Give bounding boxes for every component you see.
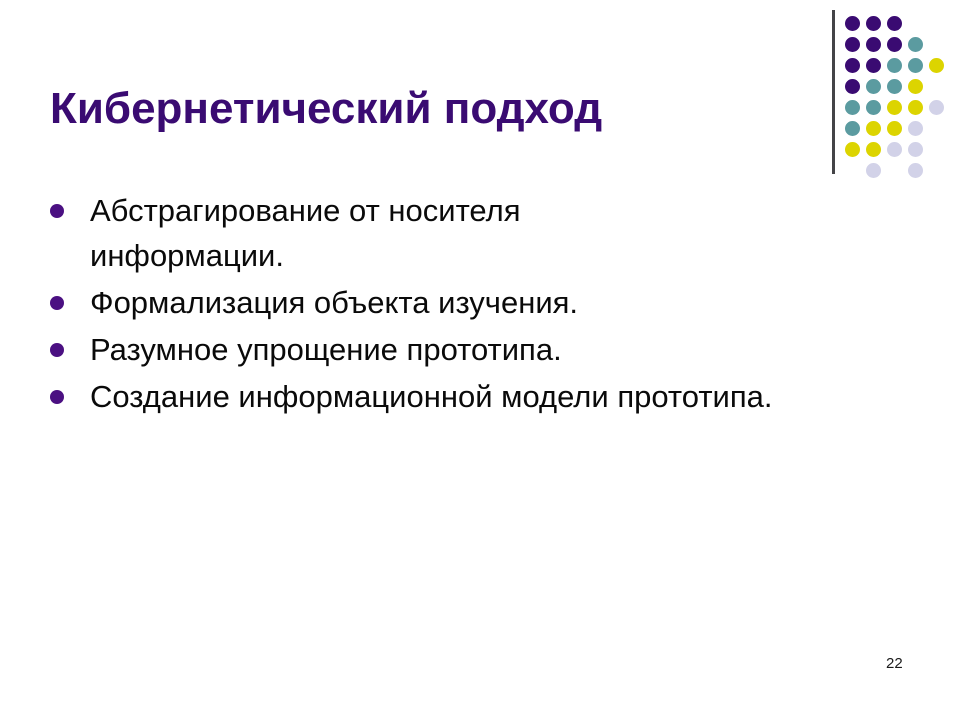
decor-dot	[887, 79, 902, 94]
decor-dot	[845, 142, 860, 157]
bullet-point-icon	[50, 390, 64, 404]
decorative-dot-motif	[832, 8, 960, 174]
decor-dot	[908, 79, 923, 94]
decor-dot	[929, 100, 944, 115]
decor-dot	[887, 100, 902, 115]
decor-dot	[908, 37, 923, 52]
bullet-item: Абстрагирование от носителя информации.	[50, 188, 840, 278]
decor-dot	[845, 100, 860, 115]
decor-dot	[845, 58, 860, 73]
decor-dot	[887, 121, 902, 136]
bullet-point-icon	[50, 296, 64, 310]
decor-dot	[866, 37, 881, 52]
decor-dot	[908, 58, 923, 73]
decor-dot	[887, 37, 902, 52]
bullet-item: Разумное упрощение прототипа.	[50, 327, 840, 372]
decor-dot	[908, 163, 923, 178]
bullet-item-text: Разумное упрощение прототипа.	[90, 327, 780, 372]
bullet-point-icon	[50, 204, 64, 218]
bullet-item: Формализация объекта изучения.	[50, 280, 840, 325]
vertical-divider-rule	[832, 10, 835, 174]
decor-dot	[887, 142, 902, 157]
dot-grid	[845, 16, 960, 174]
decor-dot	[845, 121, 860, 136]
decor-dot	[866, 58, 881, 73]
decor-dot	[887, 16, 902, 31]
decor-dot	[866, 16, 881, 31]
decor-dot	[887, 58, 902, 73]
decor-dot	[845, 79, 860, 94]
decor-dot	[908, 100, 923, 115]
decor-dot	[866, 79, 881, 94]
bullet-item-text: Формализация объекта изучения.	[90, 280, 780, 325]
decor-dot	[908, 142, 923, 157]
bullet-list: Абстрагирование от носителя информации.Ф…	[50, 188, 840, 421]
decor-dot	[866, 121, 881, 136]
bullet-item-text: Создание информационной модели прототипа…	[90, 374, 780, 419]
decor-dot	[908, 121, 923, 136]
decor-dot	[866, 163, 881, 178]
bullet-item: Создание информационной модели прототипа…	[50, 374, 840, 419]
decor-dot	[866, 142, 881, 157]
bullet-point-icon	[50, 343, 64, 357]
decor-dot	[845, 37, 860, 52]
bullet-item-text: Абстрагирование от носителя информации.	[90, 188, 690, 278]
slide-title: Кибернетический подход	[50, 82, 810, 136]
page-number: 22	[886, 655, 903, 672]
presentation-slide: Кибернетический подход Абстрагирование о…	[0, 0, 960, 720]
decor-dot	[866, 100, 881, 115]
decor-dot	[929, 58, 944, 73]
decor-dot	[845, 16, 860, 31]
